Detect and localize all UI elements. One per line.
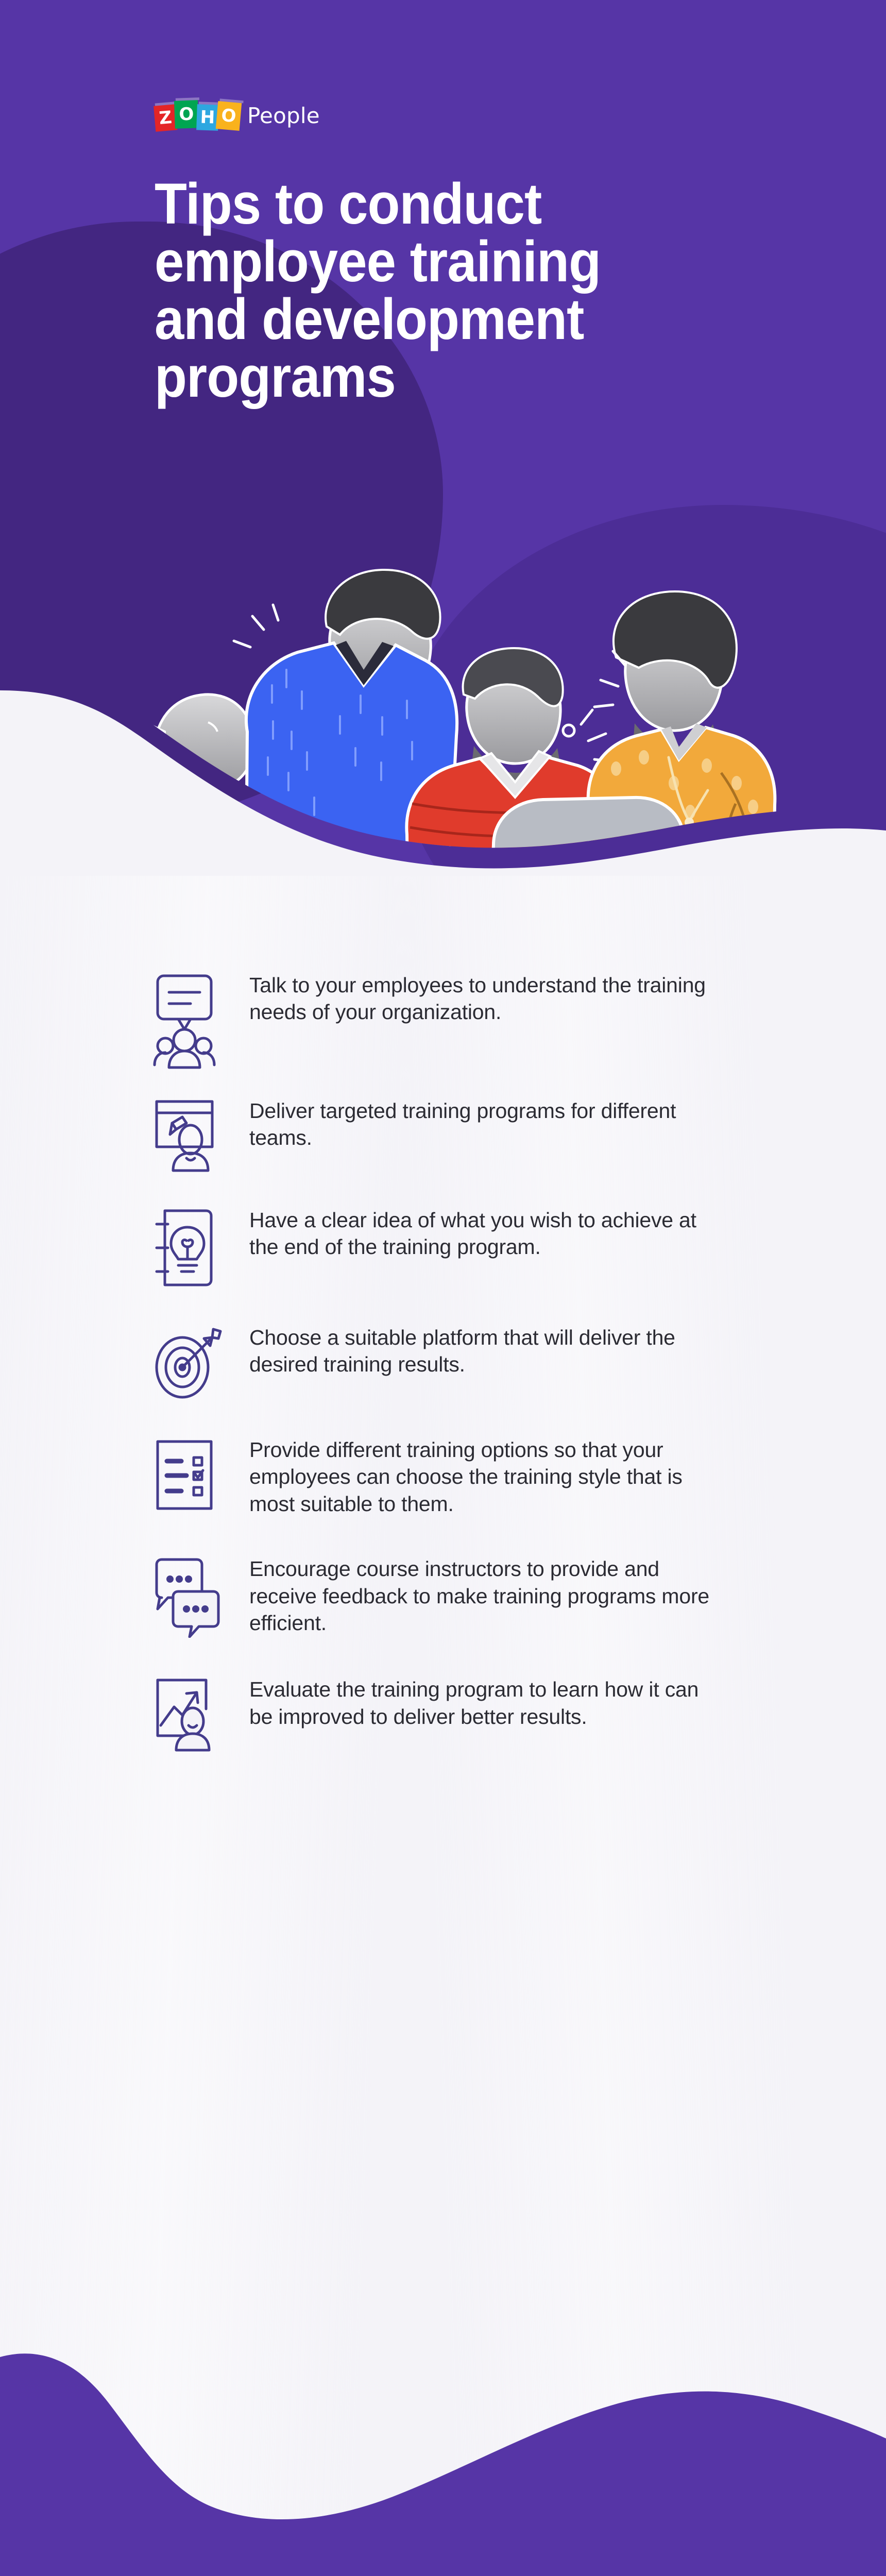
tip-icon-wrapper	[152, 1207, 230, 1289]
illustration-person-woman-right	[588, 591, 775, 927]
tip-icon-wrapper	[152, 1436, 230, 1514]
product-name-label: People	[247, 103, 320, 128]
tip-text: Talk to your employees to understand the…	[230, 972, 714, 1026]
speech-bubble-over-people-icon	[152, 972, 216, 1070]
page-title: Tips to conduct employee training and de…	[155, 175, 690, 406]
list-item: Have a clear idea of what you wish to ac…	[0, 1207, 886, 1289]
growth-chart-person-icon	[152, 1676, 219, 1753]
zoho-logo-letter-o1: O	[174, 100, 199, 129]
zoho-people-logo[interactable]: Z O H O People	[155, 101, 320, 130]
infographic-poster: Z O H O People Tips to conduct employee …	[0, 0, 886, 2576]
whiteboard-presenter-icon	[152, 1097, 216, 1175]
zoho-logo-letter-o2: O	[216, 101, 242, 131]
tips-list: Talk to your employees to understand the…	[0, 938, 886, 1753]
list-item: Encourage course instructors to provide …	[0, 1555, 886, 1638]
tip-icon-wrapper	[152, 1555, 230, 1638]
tip-text: Deliver targeted training programs for d…	[230, 1097, 714, 1151]
tip-text: Evaluate the training program to learn h…	[230, 1676, 714, 1730]
illustration-laptop	[489, 798, 688, 927]
team-illustration	[0, 515, 886, 927]
illustration-person-woman-left	[121, 694, 254, 927]
tip-icon-wrapper	[152, 1324, 230, 1401]
page-title-line-4: programs	[155, 348, 690, 406]
tip-text: Encourage course instructors to provide …	[230, 1555, 714, 1636]
options-checklist-icon	[152, 1436, 216, 1514]
page-title-line-1: Tips to conduct	[155, 175, 690, 233]
tip-icon-wrapper	[152, 1097, 230, 1175]
notebook-lightbulb-icon	[152, 1207, 216, 1289]
tip-icon-wrapper	[152, 972, 230, 1070]
page-title-line-2: employee training	[155, 233, 690, 291]
illustration-hands	[415, 883, 493, 919]
illustration-person-man-standing	[234, 570, 457, 907]
zoho-logo-letter-z: Z	[154, 104, 177, 131]
list-item: Provide different training options so th…	[0, 1436, 886, 1517]
tip-text: Have a clear idea of what you wish to ac…	[230, 1207, 714, 1261]
tip-icon-wrapper	[152, 1676, 230, 1753]
list-item: Evaluate the training program to learn h…	[0, 1676, 886, 1753]
list-item: Choose a suitable platform that will del…	[0, 1324, 886, 1401]
page-title-line-3: and development	[155, 291, 690, 348]
list-item: Deliver targeted training programs for d…	[0, 1097, 886, 1175]
tip-text: Choose a suitable platform that will del…	[230, 1324, 714, 1378]
target-arrow-icon	[152, 1324, 225, 1401]
list-item: Talk to your employees to understand the…	[0, 972, 886, 1070]
footer-wave	[0, 2296, 886, 2576]
zoho-logo-blocks: Z O H O	[155, 101, 239, 130]
tip-text: Provide different training options so th…	[230, 1436, 714, 1517]
two-chat-bubbles-icon	[152, 1555, 223, 1638]
